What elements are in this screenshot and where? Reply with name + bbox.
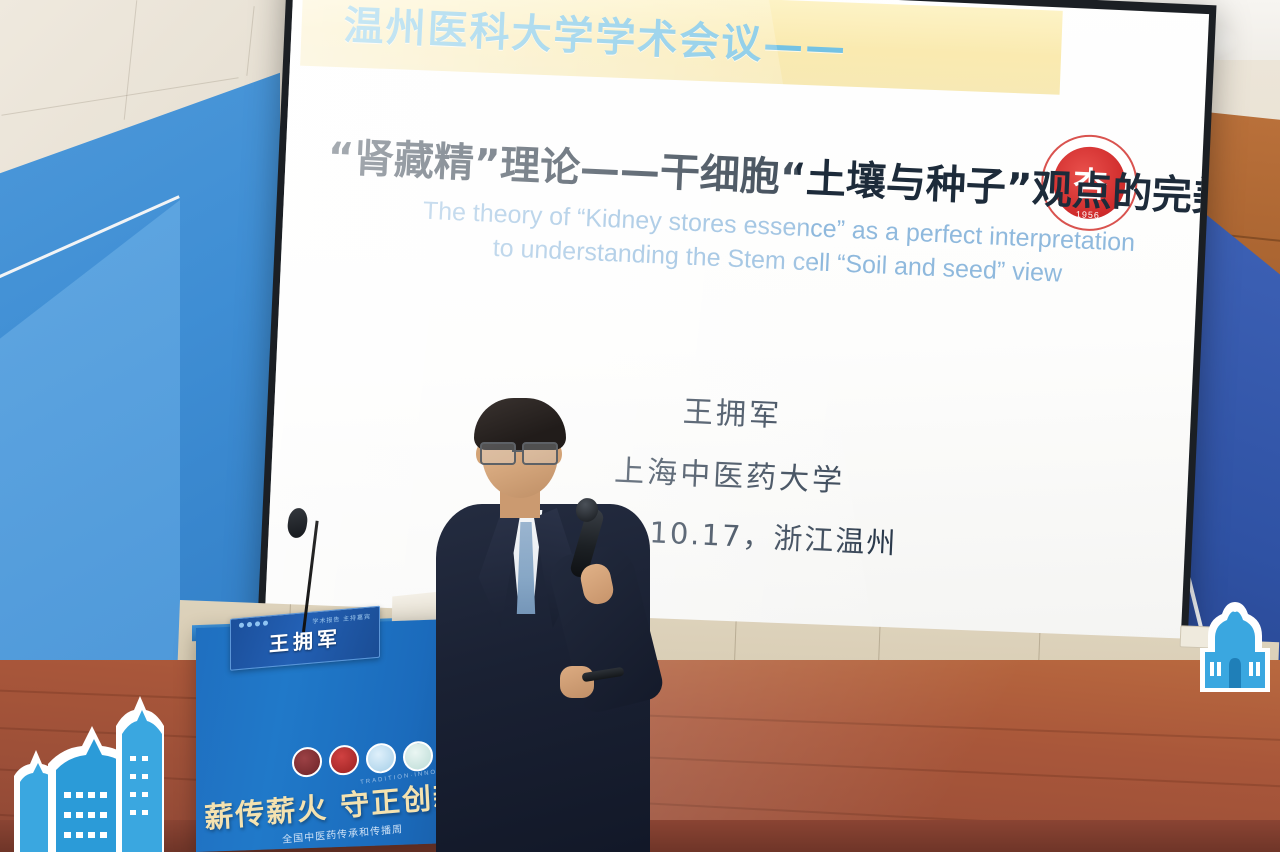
conference-stage-photo: 温州医科大学学术会议—— 杏 1956 “肾藏精”理论——干细胞“土壤与种子”观… xyxy=(0,0,1280,852)
presenter xyxy=(430,398,660,852)
projection-screen-frame: 温州医科大学学术会议—— 杏 1956 “肾藏精”理论——干细胞“土壤与种子”观… xyxy=(258,0,1217,665)
glasses-icon xyxy=(480,442,562,462)
presenter-hand-left xyxy=(560,666,594,698)
domed-building-cutout xyxy=(1196,596,1274,696)
nameplate-dots-icon xyxy=(239,620,268,628)
pagoda-skyline-cutout xyxy=(0,690,194,852)
logo-badge-lightblue xyxy=(366,742,396,774)
slide: 温州医科大学学术会议—— 杏 1956 “肾藏精”理论——干细胞“土壤与种子”观… xyxy=(265,0,1209,653)
logo-badge-crimson xyxy=(329,744,359,776)
projection-screen: 温州医科大学学术会议—— 杏 1956 “肾藏精”理论——干细胞“土壤与种子”观… xyxy=(265,0,1209,653)
logo-badge-maroon xyxy=(292,746,322,778)
logo-badge-teal xyxy=(403,740,433,772)
slide-speaker-block: 王拥军 上海中医药大学 2024.10.17，浙江温州 xyxy=(269,368,1192,575)
